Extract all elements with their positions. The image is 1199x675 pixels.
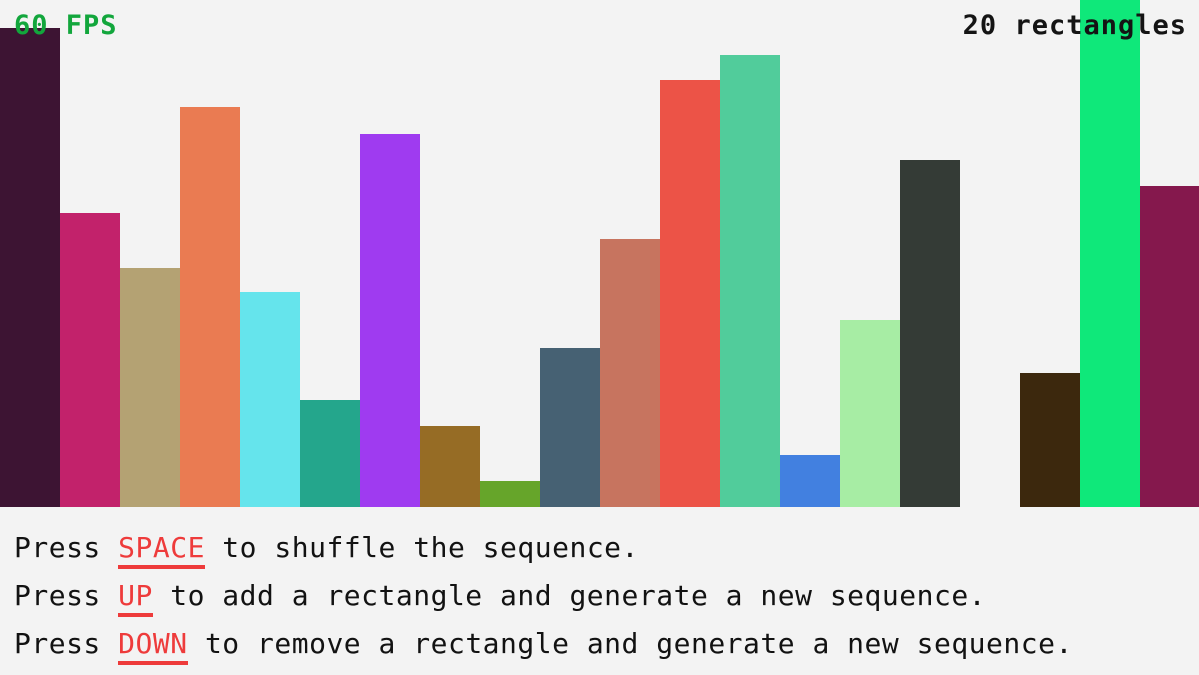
bar-rectangle xyxy=(720,55,780,507)
bar-rectangle xyxy=(840,320,900,507)
key-hint-down[interactable]: DOWN xyxy=(118,627,187,665)
bar-rectangle xyxy=(1080,0,1140,507)
bar-rectangle xyxy=(900,160,960,507)
fps-counter: 60 FPS xyxy=(14,12,118,39)
instruction-line: Press SPACE to shuffle the sequence. xyxy=(14,524,1199,572)
bar-rectangle xyxy=(1140,186,1199,507)
bar-rectangle xyxy=(1020,373,1080,507)
bar-rectangle xyxy=(60,213,120,507)
bar-rectangle xyxy=(420,426,480,507)
instruction-line: Press DOWN to remove a rectangle and gen… xyxy=(14,620,1199,668)
bar-rectangle xyxy=(780,455,840,507)
bar-rectangle xyxy=(660,80,720,507)
bar-chart-canvas[interactable] xyxy=(0,0,1199,507)
bar-rectangle xyxy=(240,292,300,507)
instruction-prefix: Press xyxy=(14,531,118,564)
key-hint-up[interactable]: UP xyxy=(118,579,153,617)
bar-rectangle xyxy=(480,481,540,507)
rectangle-sequence-app: 60 FPS 20 rectangles Press SPACE to shuf… xyxy=(0,0,1199,675)
bar-rectangle xyxy=(120,268,180,507)
bar-rectangle xyxy=(0,28,60,507)
bar-rectangle xyxy=(300,400,360,507)
bar-rectangle xyxy=(540,348,600,507)
instruction-line: Press UP to add a rectangle and generate… xyxy=(14,572,1199,620)
bar-rectangle xyxy=(180,107,240,507)
rectangle-count-label: 20 rectangles xyxy=(963,12,1187,39)
instruction-suffix: to shuffle the sequence. xyxy=(205,531,639,564)
instruction-prefix: Press xyxy=(14,627,118,660)
instruction-prefix: Press xyxy=(14,579,118,612)
instruction-suffix: to remove a rectangle and generate a new… xyxy=(188,627,1073,660)
bar-rectangle xyxy=(600,239,660,507)
key-hint-space[interactable]: SPACE xyxy=(118,531,205,569)
instruction-suffix: to add a rectangle and generate a new se… xyxy=(153,579,986,612)
instructions-panel: Press SPACE to shuffle the sequence.Pres… xyxy=(0,512,1199,675)
bar-rectangle xyxy=(360,134,420,507)
